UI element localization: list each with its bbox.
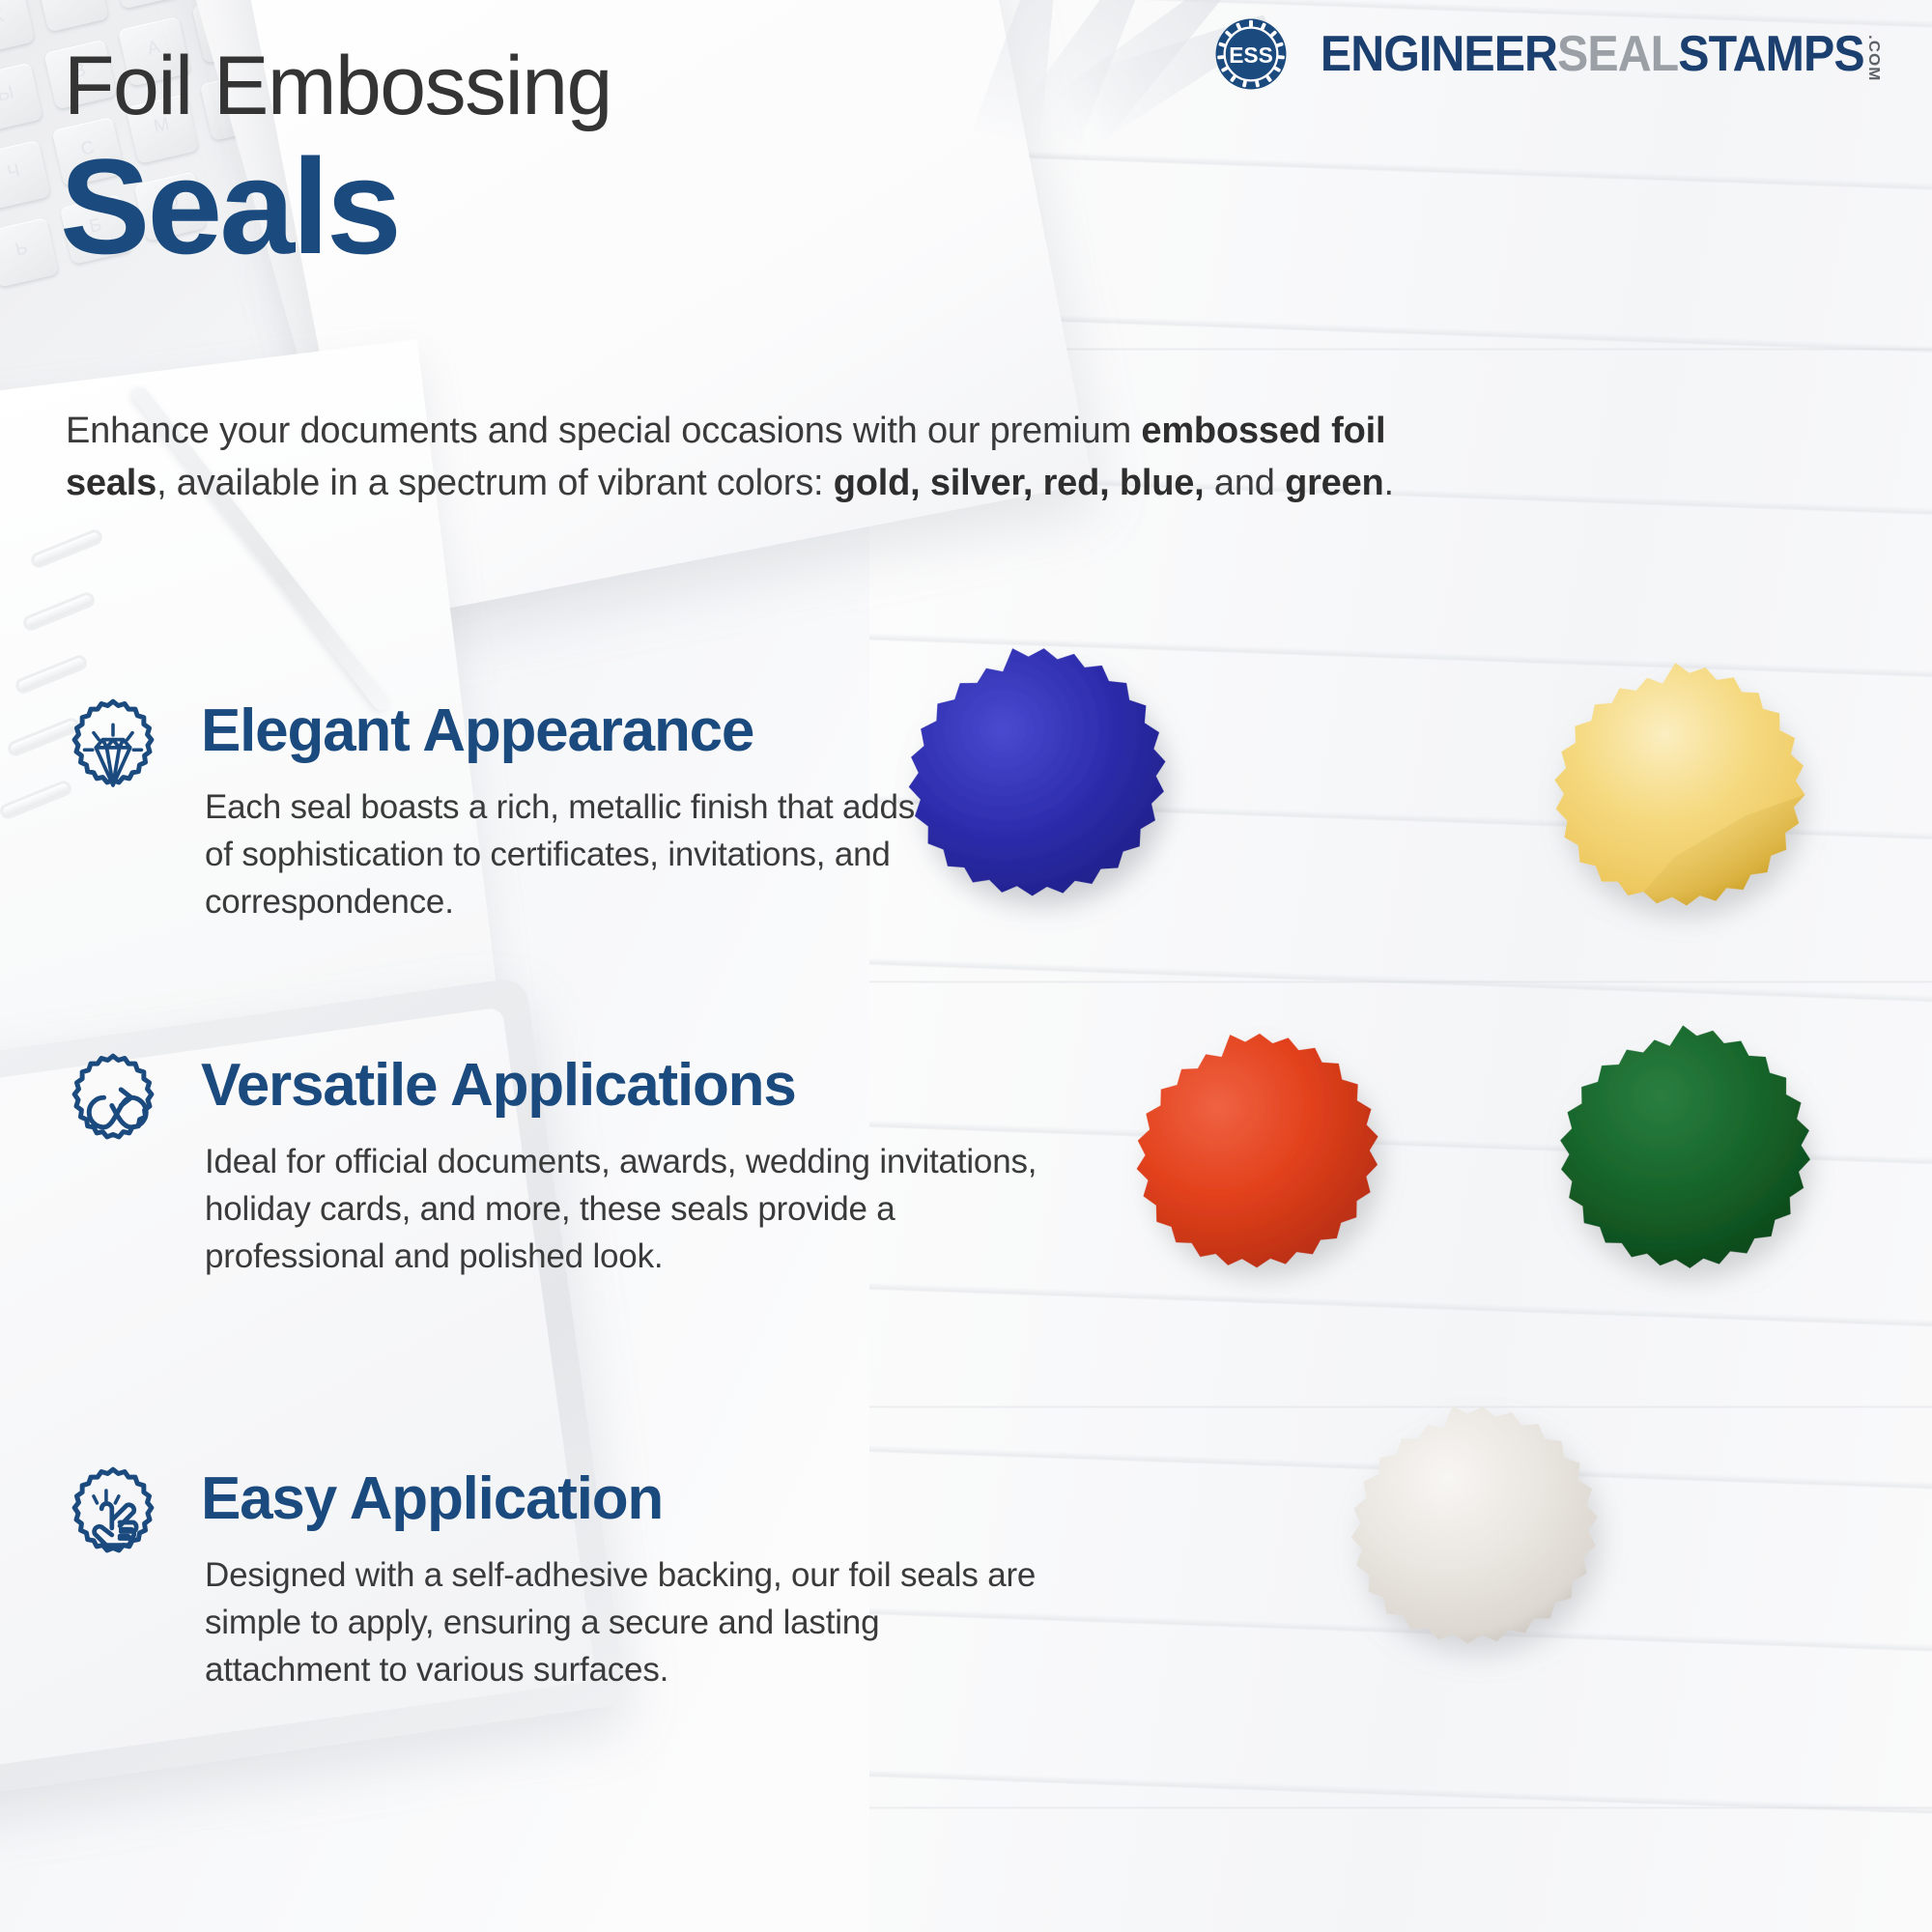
page-subtitle: Enhance your documents and special occas… [66, 406, 1437, 510]
subtitle-bold-2: gold, silver, red, blue, [834, 463, 1205, 503]
page-title-line1: Foil Embossing [64, 44, 611, 128]
logo-tld: .COM [1866, 35, 1882, 81]
brand-wordmark: ENGINEER SEAL STAMPS .COM [1321, 25, 1882, 83]
foil-seal-gold [1492, 652, 1831, 990]
logo-word-engineer: ENGINEER [1321, 25, 1557, 83]
subtitle-text-4: . [1384, 463, 1394, 503]
logo-word-stamps: STAMPS [1678, 25, 1863, 83]
diamond-gem-icon [56, 697, 170, 811]
pointing-hand-icon [56, 1465, 170, 1579]
feature-text: Ideal for official documents, awards, we… [201, 1138, 1051, 1280]
foil-seal-red [1082, 1024, 1410, 1352]
brand-logo[interactable]: ESS ENGINEER SEAL STAMPS .COM [1214, 17, 1903, 91]
ess-monogram: ESS [1229, 43, 1273, 68]
foil-seal-silver [1294, 1396, 1628, 1729]
infinity-loop-icon [56, 1052, 170, 1166]
infographic-page: Q K Л Д Ж Э ↵ ▸ Ф Ы В А П Р О Я Ч С М И … [0, 0, 1932, 1932]
subtitle-bold-3: green [1285, 463, 1383, 503]
subtitle-text-1: Enhance your documents and special occas… [66, 411, 1141, 451]
foil-seal-blue [850, 638, 1198, 985]
feature-title: Easy Application [201, 1467, 1051, 1530]
logo-word-seal: SEAL [1557, 25, 1678, 83]
ess-gear-logo-icon: ESS [1214, 17, 1288, 91]
foil-seal-green [1497, 1014, 1835, 1352]
feature-title: Versatile Applications [201, 1054, 1051, 1117]
feature-versatile-applications: Versatile Applications Ideal for officia… [56, 1048, 1051, 1280]
subtitle-text-3: and [1205, 463, 1286, 503]
page-title-line2: Seals [60, 131, 399, 283]
feature-text: Designed with a self-adhesive backing, o… [201, 1551, 1051, 1693]
feature-easy-application: Easy Application Designed with a self-ad… [56, 1462, 1051, 1693]
subtitle-text-2: , available in a spectrum of vibrant col… [156, 463, 834, 503]
